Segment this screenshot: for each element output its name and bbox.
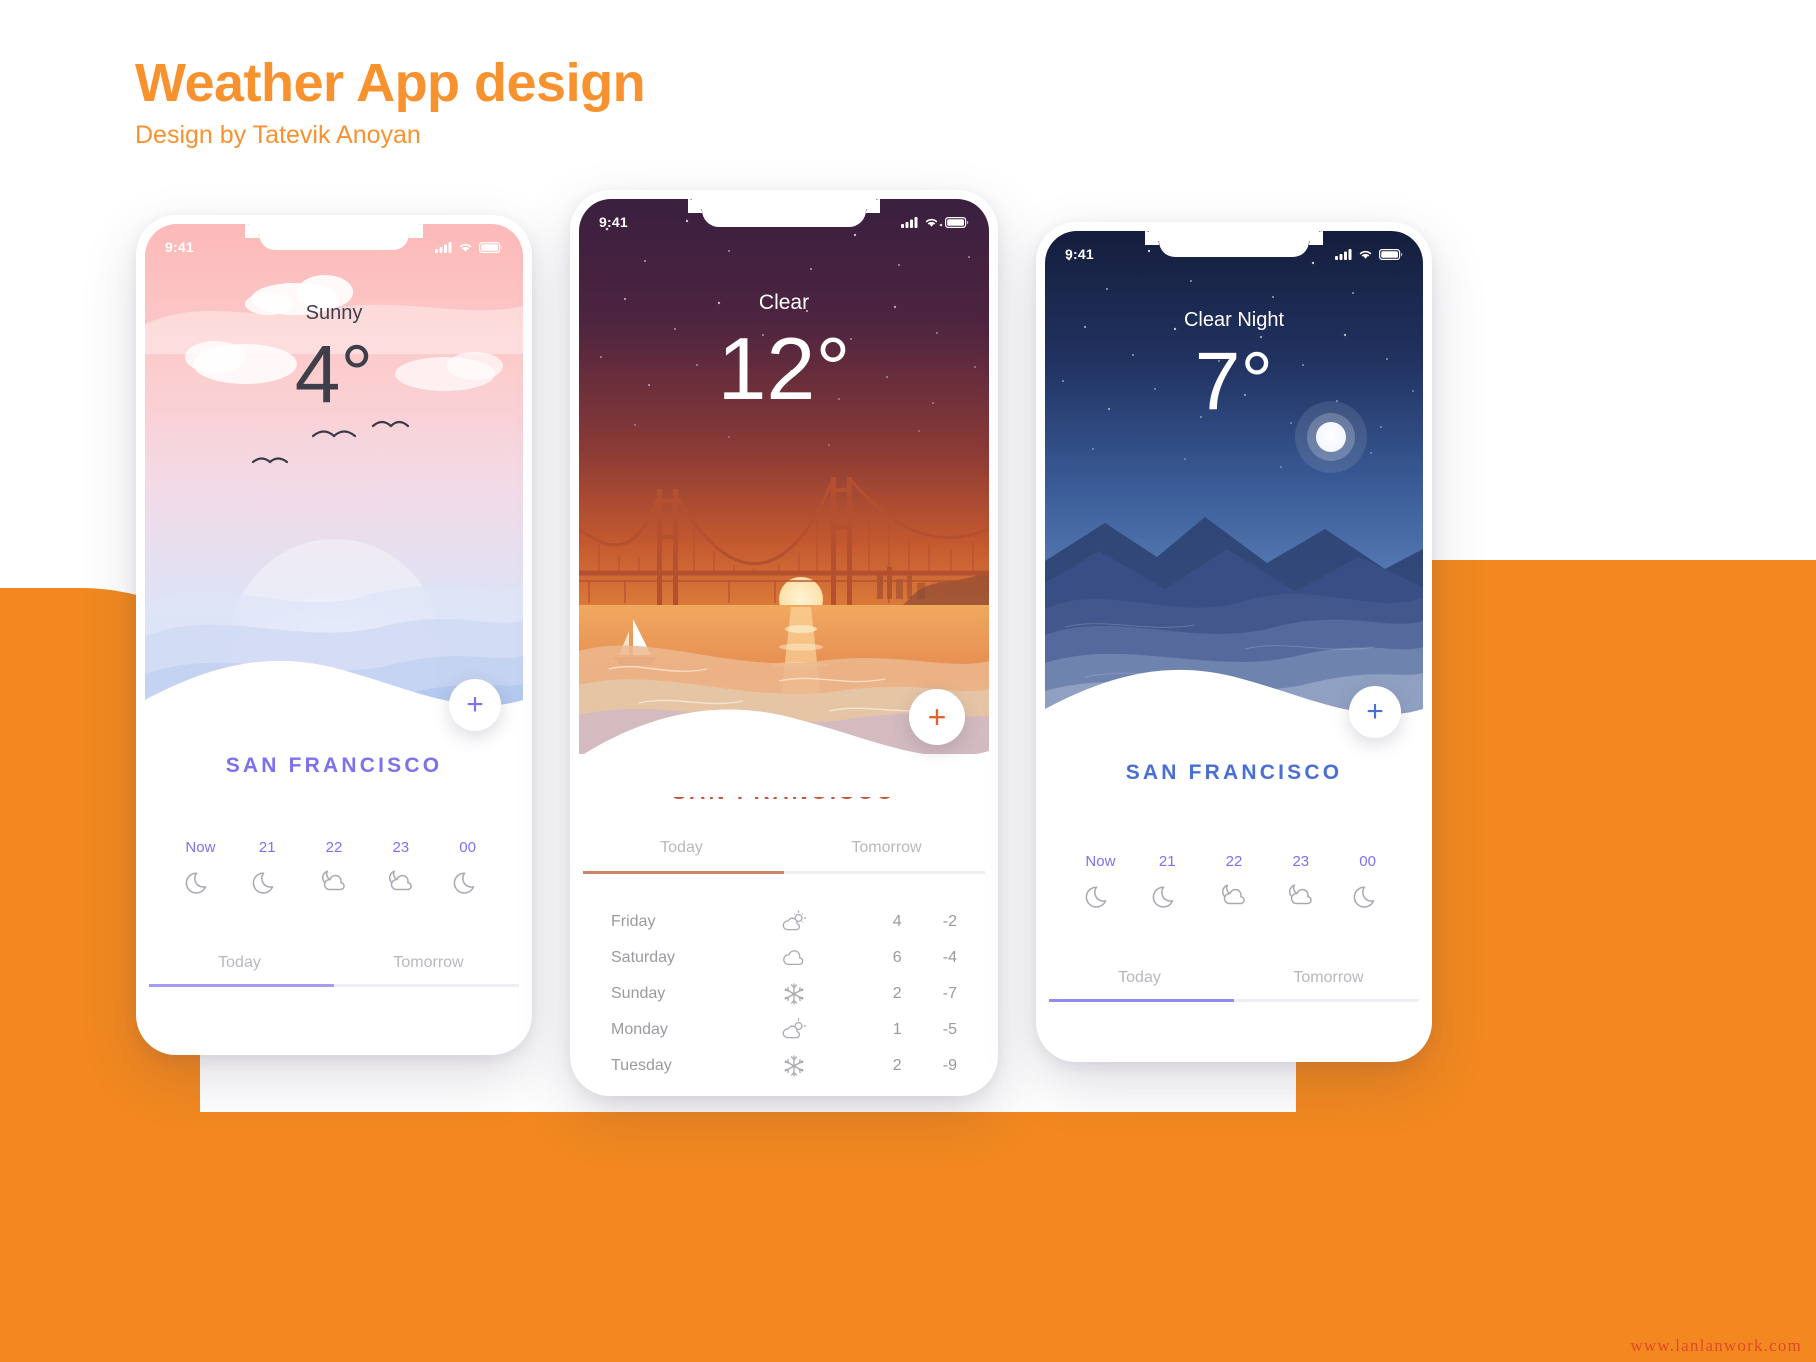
forecast-high: 4 [846,913,901,931]
forecast-day: Sunday [611,985,742,1003]
forecast-row[interactable]: Friday 4 -2 [579,904,989,940]
city-name-night: SAN FRANCISCO [1045,761,1423,785]
sun-cloud-icon [742,909,846,935]
tab-indicator-active [1049,999,1234,1002]
cloud-icon [742,945,846,971]
tab-bar-night: Today Tomorrow [1045,969,1423,1001]
hour-item[interactable]: 00 [1353,853,1383,910]
daily-forecast-list: Friday 4 -2 Saturday 6 -4 Sunday [579,904,989,1084]
forecast-day: Saturday [611,949,742,967]
hourly-forecast-night: Now 21 22 23 00 [1045,853,1423,910]
notch [702,199,866,227]
tab-bar-sunny: Today Tomorrow [145,954,523,986]
tab-indicator-inactive [334,984,519,987]
signal-icon [901,217,918,228]
moon-cloud-icon [319,866,349,896]
hour-item[interactable]: Now [1085,853,1115,910]
wifi-icon [924,217,939,228]
add-location-button-night[interactable]: + [1349,686,1401,738]
phone-clear: 9:41 Clear 12° + SAN FRANCISCO Today Tom… [570,190,998,1096]
hourly-forecast-sunny: Now 21 22 23 00 [145,839,523,896]
moon-icon [1085,880,1115,910]
hour-label: 23 [1292,853,1309,870]
hour-label: 00 [459,839,476,856]
forecast-high: 1 [846,1021,901,1039]
tab-tomorrow[interactable]: Tomorrow [334,954,523,986]
status-time: 9:41 [1065,246,1094,262]
forecast-day: Monday [611,1021,742,1039]
city-name-sunny: SAN FRANCISCO [145,754,523,778]
hour-item[interactable]: Now [185,839,215,896]
forecast-low: -9 [902,1057,957,1075]
tab-indicator-active [583,871,784,874]
temperature-night: 7° [1045,341,1423,423]
tab-bar-clear: Today Tomorrow [579,839,989,871]
page-subtitle: Design by Tatevik Anoyan [135,121,645,150]
forecast-day: Friday [611,913,742,931]
moon-cloud-icon [1286,880,1316,910]
hour-label: 21 [1159,853,1176,870]
tab-indicator-inactive [1234,999,1419,1002]
hour-item[interactable]: 23 [386,839,416,896]
tab-indicator-night [1045,999,1423,1002]
tab-indicator-inactive [784,871,985,874]
wifi-icon [458,242,473,253]
battery-icon [479,242,503,253]
condition-label-clear: Clear [579,291,989,315]
clear-night-illustration [1045,231,1423,721]
status-time: 9:41 [165,239,194,255]
forecast-low: -4 [902,949,957,967]
forecast-high: 2 [846,1057,901,1075]
hour-item[interactable]: 22 [1219,853,1249,910]
hour-item[interactable]: 23 [1286,853,1316,910]
hour-item[interactable]: 00 [453,839,483,896]
hour-item[interactable]: 21 [252,839,282,896]
hour-label: 21 [259,839,276,856]
status-time: 9:41 [599,214,628,230]
forecast-day: Tuesday [611,1057,742,1075]
moon-icon [252,866,282,896]
tab-tomorrow[interactable]: Tomorrow [784,839,989,871]
notch [1159,231,1309,257]
forecast-row[interactable]: Saturday 6 -4 [579,940,989,976]
forecast-low: -5 [902,1021,957,1039]
condition-label-sunny: Sunny [145,302,523,325]
hour-item[interactable]: 22 [319,839,349,896]
hour-label: 22 [326,839,343,856]
battery-icon [945,217,969,228]
sun-cloud-icon [742,1017,846,1043]
tab-indicator-sunny [145,984,523,987]
moon-cloud-icon [1219,880,1249,910]
sunny-illustration [145,224,523,714]
forecast-row[interactable]: Monday 1 -5 [579,1012,989,1048]
tab-today[interactable]: Today [579,839,784,871]
tab-today[interactable]: Today [145,954,334,986]
hour-item[interactable]: 21 [1152,853,1182,910]
forecast-low: -7 [902,985,957,1003]
signal-icon [1335,249,1352,260]
forecast-high: 2 [846,985,901,1003]
watermark: www.lanlanwork.com [1630,1336,1802,1356]
forecast-row[interactable]: Sunday 2 -7 [579,976,989,1012]
forecast-low: -2 [902,913,957,931]
add-location-button-sunny[interactable]: + [449,679,501,731]
tab-indicator-clear [579,871,989,874]
hour-label: Now [1085,853,1115,870]
page-title: Weather App design [135,55,645,112]
moon-icon [1353,880,1383,910]
wifi-icon [1358,249,1373,260]
signal-icon [435,242,452,253]
hour-label: 23 [392,839,409,856]
tab-tomorrow[interactable]: Tomorrow [1234,969,1423,1001]
clear-illustration [579,199,989,754]
snow-icon [742,1053,846,1079]
moon-icon [453,866,483,896]
battery-icon [1379,249,1403,260]
hour-label: Now [185,839,215,856]
temperature-sunny: 4° [145,334,523,416]
page-header: Weather App design Design by Tatevik Ano… [135,55,645,150]
forecast-high: 6 [846,949,901,967]
hour-label: 22 [1226,853,1243,870]
condition-label-night: Clear Night [1045,309,1423,332]
tab-indicator-active [149,984,334,987]
moon-cloud-icon [386,866,416,896]
phone-sunny: 9:41 Sunny 4° + SAN FRANCISCO Now 21 22 [136,215,532,1055]
temperature-clear: 12° [579,325,989,413]
hour-label: 00 [1359,853,1376,870]
moon-icon [1152,880,1182,910]
moon-icon [185,866,215,896]
phone-clear-night: 9:41 Clear Night 7° + SAN FRANCISCO Now … [1036,222,1432,1062]
tab-today[interactable]: Today [1045,969,1234,1001]
notch [259,224,409,250]
snow-icon [742,981,846,1007]
forecast-row[interactable]: Tuesday 2 -9 [579,1048,989,1084]
add-location-button-clear[interactable]: + [909,689,965,745]
